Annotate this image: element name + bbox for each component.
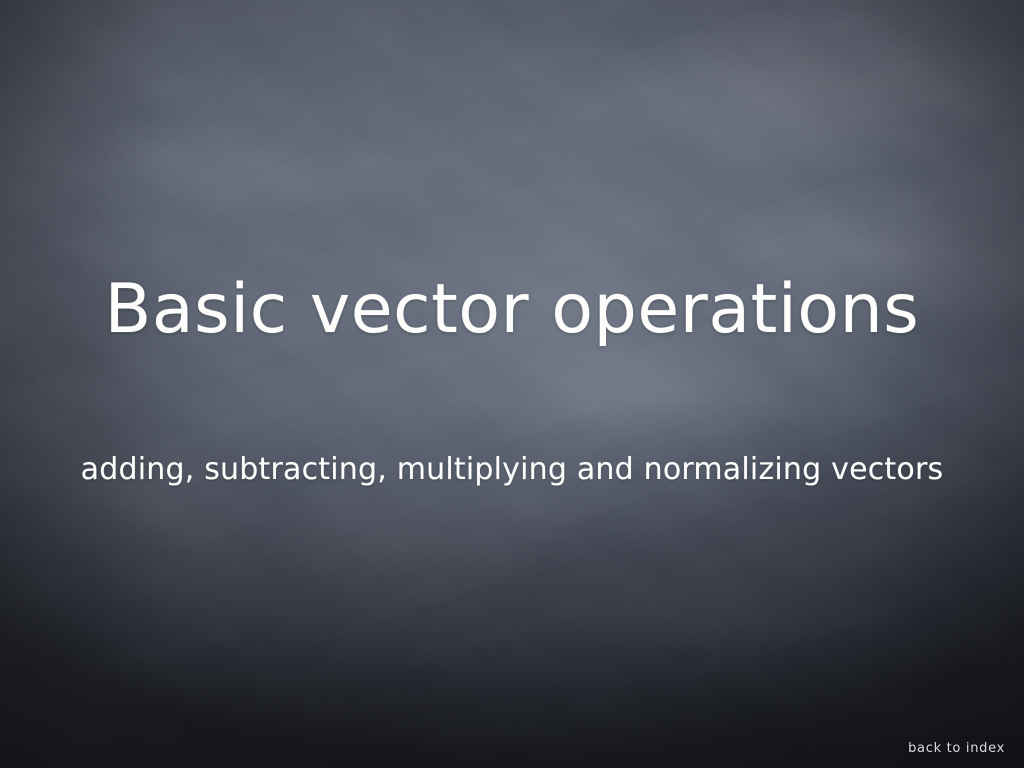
- slide-canvas: Basic vector operations adding, subtract…: [0, 0, 1024, 768]
- back-to-index-link[interactable]: back to index: [908, 741, 1005, 757]
- page-title: Basic vector operations: [0, 268, 1024, 352]
- page-subtitle: adding, subtracting, multiplying and nor…: [62, 446, 962, 493]
- slide-content: Basic vector operations adding, subtract…: [0, 0, 1024, 768]
